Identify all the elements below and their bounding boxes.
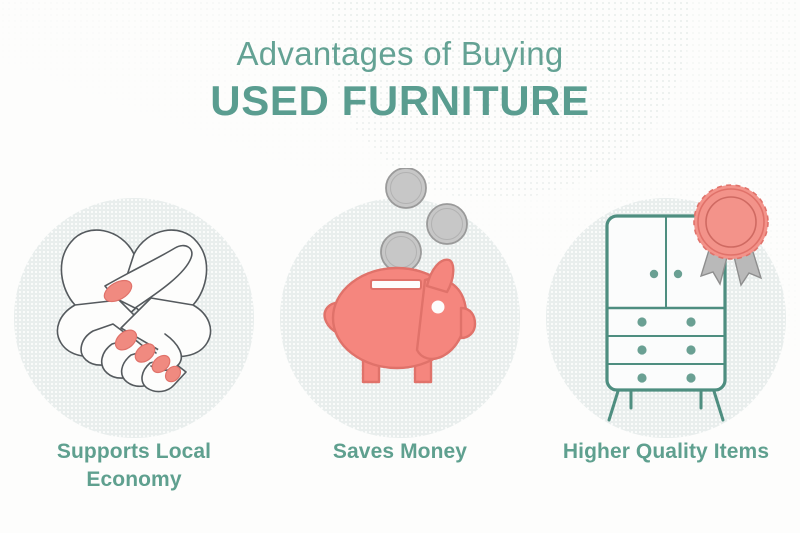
wardrobe-legs (609, 388, 723, 420)
wardrobe-award-icon (541, 168, 791, 430)
piggy-bank-coins-icon (275, 168, 525, 430)
advantage-caption: Higher Quality Items (563, 438, 769, 466)
handshake-heart-icon (9, 168, 259, 430)
page-title: USED FURNITURE (0, 76, 800, 126)
advantage-caption: Supports Local Economy (27, 438, 242, 493)
title-subline: Advantages of Buying (0, 34, 800, 74)
icon-stage (541, 168, 791, 430)
icon-stage (9, 168, 259, 430)
infographic-header: Advantages of Buying USED FURNITURE (0, 34, 800, 126)
advantage-card-supports-local-economy: Supports Local Economy (1, 168, 267, 493)
icon-stage (275, 168, 525, 430)
advantage-card-saves-money: Saves Money (267, 168, 533, 466)
advantages-card-row: Supports Local Economy (0, 168, 800, 493)
award-rosette (694, 185, 768, 259)
coin-group (381, 168, 467, 272)
advantage-caption: Saves Money (333, 438, 467, 466)
advantage-card-higher-quality-items: Higher Quality Items (533, 168, 799, 466)
